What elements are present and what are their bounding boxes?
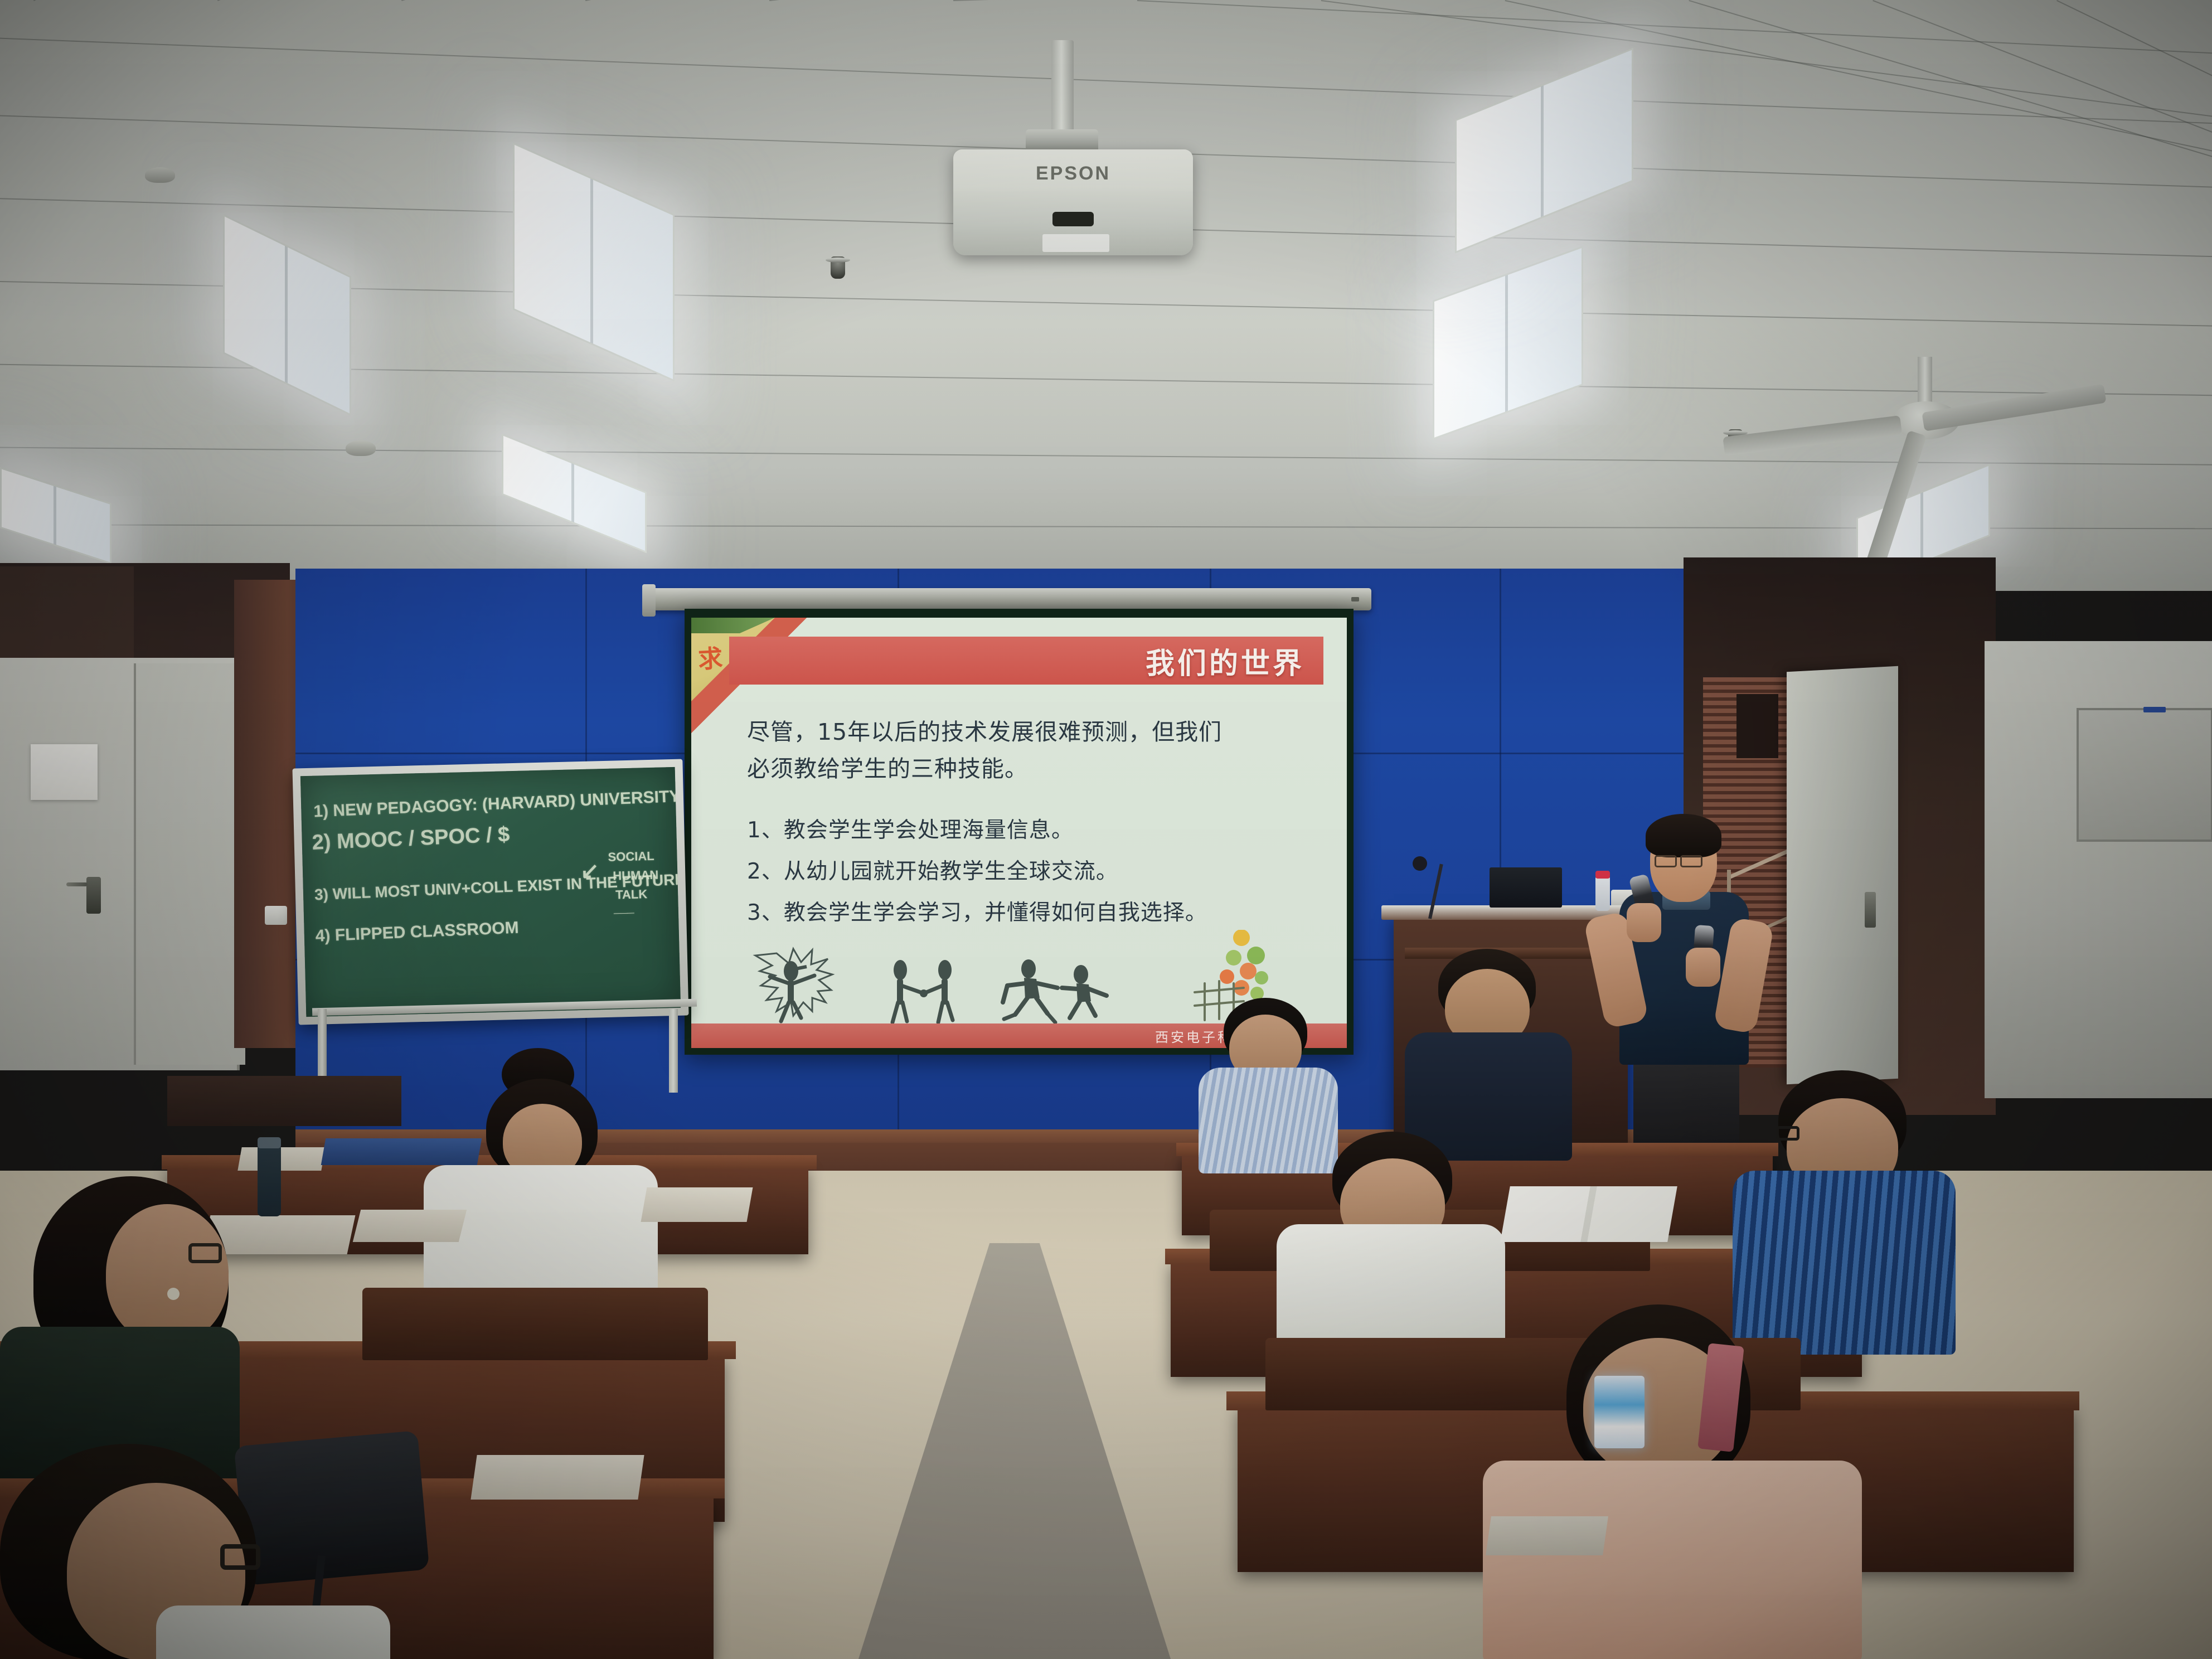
slide-stick-figure-illustration bbox=[750, 944, 1196, 1028]
audience-glasses-icon bbox=[1776, 1126, 1799, 1141]
presentation-slide: 求 我们的世界 尽管，15年以后的技术发展很难预测，但我们 必须教给学生的三种技… bbox=[691, 618, 1347, 1048]
ceiling-grid-line bbox=[0, 0, 868, 1]
ceiling-grid-line bbox=[1689, 0, 2212, 415]
projector-sticker bbox=[1042, 234, 1109, 252]
water-bottle-on-desk bbox=[258, 1144, 281, 1216]
projector-brand-label: EPSON bbox=[953, 163, 1193, 185]
ceiling: EPSON bbox=[0, 0, 2212, 591]
ceiling-grid-line bbox=[0, 0, 1113, 1]
sprinkler-head-icon bbox=[831, 256, 845, 279]
blackboard-line-1: 1) NEW PEDAGOGY: (HARVARD) UNIVERSITY bbox=[313, 787, 681, 822]
speaker-left-hand bbox=[1686, 948, 1720, 987]
blackboard-line-2: 2) MOOC / SPOC / $ bbox=[312, 823, 510, 855]
blackboard-surface: 1) NEW PEDAGOGY: (HARVARD) UNIVERSITY 2)… bbox=[300, 767, 681, 1017]
slide-list-item: 3、教会学生学会学习，并懂得如何自我选择。 bbox=[747, 892, 1313, 934]
blackboard-side-note-3: TALK bbox=[615, 887, 648, 902]
right-wall-whiteboard bbox=[2077, 708, 2212, 842]
roller-bracket bbox=[642, 584, 656, 617]
light-switch-icon[interactable] bbox=[265, 906, 287, 925]
ceiling-grid-line bbox=[769, 0, 2210, 1]
lecture-hall-photo: EPSON bbox=[0, 0, 2212, 1659]
ceiling-grid-line bbox=[2056, 0, 2212, 591]
audience-glasses-icon bbox=[188, 1243, 222, 1263]
ceiling-grid-line bbox=[401, 0, 1798, 1]
open-book bbox=[1500, 1186, 1677, 1242]
earring-icon bbox=[167, 1288, 180, 1300]
slide-list-item: 2、从幼儿园就开始教学生全球交流。 bbox=[747, 851, 1313, 892]
paper-sheet bbox=[237, 1147, 325, 1171]
projector-lens-icon bbox=[1052, 212, 1094, 226]
ceiling-grid-line bbox=[0, 33, 2212, 129]
speaker-glasses-icon bbox=[1680, 855, 1702, 867]
bench-back bbox=[362, 1288, 708, 1360]
storage-cabinet-left bbox=[167, 1076, 401, 1126]
audience-glasses-icon bbox=[220, 1544, 260, 1570]
stairwell-opening bbox=[1736, 694, 1778, 758]
gooseneck-microphone-head-icon bbox=[1413, 856, 1427, 871]
whiteboard-marker-icon bbox=[2143, 707, 2166, 712]
ceiling-projector: EPSON bbox=[953, 149, 1193, 255]
blackboard-line-4: 4) FLIPPED CLASSROOM bbox=[315, 919, 519, 946]
slide-title-bar: 我们的世界 bbox=[729, 637, 1323, 685]
stick-figures-svg bbox=[750, 944, 1196, 1028]
door-handle-icon[interactable] bbox=[86, 877, 101, 914]
right-door-open[interactable] bbox=[1787, 666, 1898, 1084]
paper-sheet bbox=[641, 1187, 753, 1222]
notebook-open bbox=[202, 1215, 356, 1254]
ceiling-fan-rod bbox=[1918, 357, 1932, 407]
ceiling-grid-line bbox=[585, 0, 2009, 1]
speaker-glasses-icon bbox=[1655, 855, 1677, 867]
ceiling-grid-line bbox=[0, 446, 2212, 467]
blackboard-underline: ___ bbox=[613, 901, 634, 916]
slide-list-item: 1、教会学生学会处理海量信息。 bbox=[747, 810, 1313, 851]
paper-sheet bbox=[353, 1210, 467, 1242]
blue-folder-on-desk bbox=[321, 1138, 482, 1165]
notebook-open bbox=[470, 1455, 644, 1500]
ceiling-grid-line bbox=[217, 0, 1578, 1]
slide-lead-line-2: 必须教给学生的三种技能。 bbox=[747, 750, 1313, 787]
right-door-handle-icon[interactable] bbox=[1865, 892, 1876, 928]
smartphone-screen[interactable] bbox=[1594, 1376, 1645, 1448]
blackboard-side-note-1: SOCIAL bbox=[608, 849, 654, 865]
blackboard: 1) NEW PEDAGOGY: (HARVARD) UNIVERSITY 2)… bbox=[292, 759, 688, 1025]
paper-in-hand bbox=[1486, 1516, 1608, 1555]
slide-body: 尽管，15年以后的技术发展很难预测，但我们 必须教给学生的三种技能。 1、教会学… bbox=[747, 714, 1313, 934]
speaker-right-hand bbox=[1627, 903, 1661, 942]
blackboard-arrow-icon: ↙ bbox=[580, 858, 600, 884]
left-door-second-leaf[interactable] bbox=[134, 663, 245, 1065]
water-bottle-cap bbox=[1595, 871, 1610, 879]
blackboard-side-note-2: HUMAN bbox=[613, 868, 659, 884]
projection-screen-roller[interactable] bbox=[649, 588, 1371, 610]
slide-title: 我们的世界 bbox=[1146, 640, 1304, 682]
water-bottle bbox=[1595, 876, 1610, 911]
slide-list: 1、教会学生学会处理海量信息。 2、从幼儿园就开始教学生全球交流。 3、教会学生… bbox=[747, 810, 1313, 934]
smoke-detector-icon bbox=[346, 440, 376, 456]
door-notice-paper bbox=[31, 744, 98, 800]
laptop-on-lectern[interactable] bbox=[1490, 867, 1562, 908]
roller-end-cap-icon bbox=[1351, 597, 1359, 601]
bottle-cap-icon bbox=[258, 1137, 281, 1148]
slide-lead-line-1: 尽管，15年以后的技术发展很难预测，但我们 bbox=[747, 714, 1313, 750]
black-shoulder-bag bbox=[234, 1430, 430, 1585]
speaker-hair bbox=[1646, 814, 1721, 857]
projector-mount-rod bbox=[1051, 40, 1074, 134]
smoke-detector-icon bbox=[145, 167, 175, 183]
